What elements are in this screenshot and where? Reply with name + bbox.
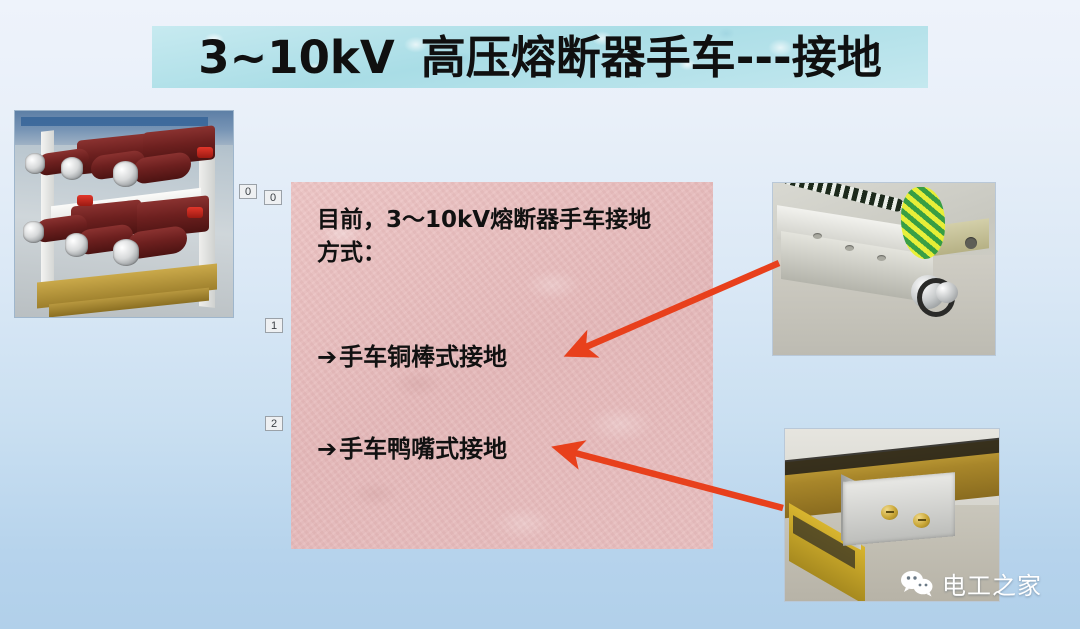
watermark-text: 电工之家 xyxy=(942,566,1042,601)
title-suffix: 高压熔断器手车---接地 xyxy=(421,31,882,84)
marker-badge-0b[interactable]: 0 xyxy=(264,190,282,205)
content-text-box: 目前，3～10kV熔断器手车接地 方式： ➔手车铜棒式接地 ➔手车鸭嘴式接地 xyxy=(291,182,713,549)
ground-wire xyxy=(901,187,945,259)
contact-cap-l1 xyxy=(23,221,44,243)
contact-cap-u3 xyxy=(113,161,138,187)
mount-hole-3 xyxy=(877,255,886,261)
duckbill-bracket xyxy=(843,472,955,546)
mount-hole-2 xyxy=(845,245,854,251)
bracket-screw-2 xyxy=(913,513,930,528)
contact-cap-l2 xyxy=(65,233,88,257)
fuse-trolley-photo xyxy=(14,110,234,318)
mount-hole-1 xyxy=(813,233,822,239)
intro-line-2: 方式： xyxy=(317,237,695,270)
red-tab-l2 xyxy=(77,195,93,206)
bullet-label: 手车铜棒式接地 xyxy=(339,343,507,371)
red-tab-l1 xyxy=(187,207,203,218)
marker-badge-0a[interactable]: 0 xyxy=(239,184,257,199)
copper-rod-grounding-photo xyxy=(772,182,996,356)
contact-cap-u2 xyxy=(61,157,83,180)
bracket-screw-1 xyxy=(881,505,898,520)
copper-rod-tip xyxy=(936,282,958,303)
watermark: 电工之家 xyxy=(900,566,1042,601)
wechat-icon xyxy=(900,570,934,598)
red-tab-u1 xyxy=(197,147,213,158)
intro-line-1: 目前，3～10kV熔断器手车接地 xyxy=(317,204,695,237)
contact-cap-l3 xyxy=(113,239,139,266)
bullet-arrow-icon: ➔ xyxy=(317,435,337,463)
bullet-arrow-icon: ➔ xyxy=(317,343,337,371)
mount-hole-4 xyxy=(965,237,977,249)
slide-canvas: 3~10kV高压熔断器手车---接地 xyxy=(0,0,1080,629)
contact-cap-u1 xyxy=(25,153,45,174)
slide-title-banner: 3~10kV高压熔断器手车---接地 xyxy=(152,26,928,88)
bullet-item-duckbill: ➔手车鸭嘴式接地 xyxy=(317,429,507,464)
page-title: 3~10kV高压熔断器手车---接地 xyxy=(198,35,881,80)
title-prefix: 3~10kV xyxy=(198,31,394,84)
marker-badge-2[interactable]: 2 xyxy=(265,416,283,431)
photo-shelf-rail xyxy=(21,117,208,126)
marker-badge-1[interactable]: 1 xyxy=(265,318,283,333)
bullet-item-copper-rod: ➔手车铜棒式接地 xyxy=(317,337,507,372)
bullet-label: 手车鸭嘴式接地 xyxy=(339,435,507,463)
